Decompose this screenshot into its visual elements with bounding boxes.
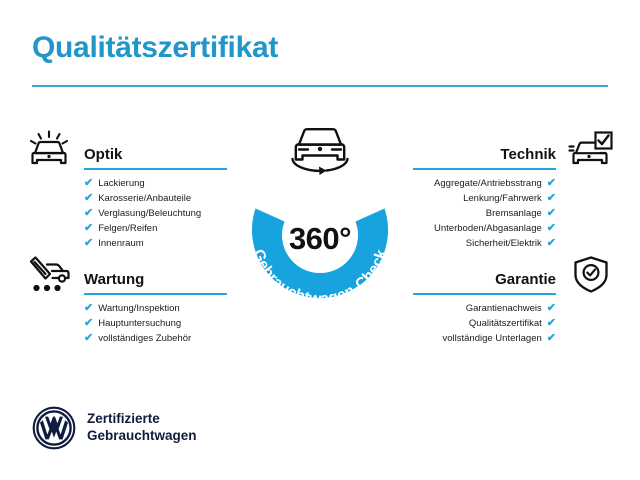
check-icon: ✔: [547, 191, 556, 206]
list-item-label: vollständiges Zubehör: [98, 333, 191, 344]
section-garantie-divider: [413, 293, 556, 295]
check-icon: ✔: [84, 236, 93, 251]
check-icon: ✔: [84, 316, 93, 331]
list-item-label: Qualitätszertifikat: [469, 318, 542, 329]
section-wartung-list: ✔Wartung/Inspektion ✔Hauptuntersuchung ✔…: [84, 301, 191, 346]
list-item: Garantienachweis✔: [442, 301, 556, 316]
section-optik-title: Optik: [84, 146, 122, 163]
list-item-label: Aggregate/Antriebsstrang: [434, 178, 542, 189]
title-divider: [32, 85, 608, 87]
list-item-label: Lenkung/Fahrwerk: [463, 193, 542, 204]
vw-logo-wordmark: Zertifizierte Gebrauchtwagen: [87, 410, 197, 444]
car-shine-icon: [26, 130, 72, 170]
section-technik-divider: [413, 168, 556, 170]
check-icon: ✔: [84, 331, 93, 346]
list-item: Unterboden/Abgasanlage✔: [434, 221, 556, 236]
list-item-label: Lackierung: [98, 178, 144, 189]
list-item-label: Garantienachweis: [466, 303, 542, 314]
list-item: ✔Lackierung: [84, 176, 201, 191]
check-icon: ✔: [84, 206, 93, 221]
list-item: ✔Wartung/Inspektion: [84, 301, 191, 316]
list-item: Qualitätszertifikat✔: [442, 316, 556, 331]
list-item: ✔Innenraum: [84, 236, 201, 251]
badge-360-gebrauchtwagen-check: Gebrauchtwagen-Check 360°: [229, 122, 411, 312]
check-icon: ✔: [84, 176, 93, 191]
badge-center-label: 360°: [229, 223, 411, 254]
section-optik-list: ✔Lackierung ✔Karosserie/Anbauteile ✔Verg…: [84, 176, 201, 251]
list-item: ✔Karosserie/Anbauteile: [84, 191, 201, 206]
vw-wordmark-line1: Zertifizierte: [87, 410, 197, 427]
check-icon: ✔: [84, 301, 93, 316]
list-item: Sicherheit/Elektrik✔: [434, 236, 556, 251]
car-rotate-360-icon: [281, 122, 359, 180]
section-wartung-divider: [84, 293, 227, 295]
certificate-page: Qualitätszertifikat Op: [0, 0, 640, 480]
page-title: Qualitätszertifikat: [32, 33, 278, 63]
list-item: Lenkung/Fahrwerk✔: [434, 191, 556, 206]
list-item: ✔Hauptuntersuchung: [84, 316, 191, 331]
section-wartung-title: Wartung: [84, 271, 144, 288]
list-item-label: Wartung/Inspektion: [98, 303, 180, 314]
vw-roundel-icon: [32, 406, 76, 450]
section-garantie-list: Garantienachweis✔ Qualitätszertifikat✔ v…: [442, 301, 556, 346]
check-icon: ✔: [547, 316, 556, 331]
list-item-label: vollständige Unterlagen: [442, 333, 541, 344]
list-item-label: Verglasung/Beleuchtung: [98, 208, 201, 219]
section-garantie-title: Garantie: [495, 271, 556, 288]
list-item: Aggregate/Antriebsstrang✔: [434, 176, 556, 191]
check-icon: ✔: [547, 176, 556, 191]
section-technik-title: Technik: [500, 146, 556, 163]
list-item: ✔Verglasung/Beleuchtung: [84, 206, 201, 221]
section-optik-divider: [84, 168, 227, 170]
list-item-label: Sicherheit/Elektrik: [466, 238, 542, 249]
check-icon: ✔: [547, 236, 556, 251]
shield-check-icon: [568, 255, 614, 295]
list-item: vollständige Unterlagen✔: [442, 331, 556, 346]
list-item: Bremsanlage✔: [434, 206, 556, 221]
list-item-label: Innenraum: [98, 238, 143, 249]
check-icon: ✔: [547, 206, 556, 221]
section-technik-list: Aggregate/Antriebsstrang✔ Lenkung/Fahrwe…: [434, 176, 556, 251]
vw-wordmark-line2: Gebrauchtwagen: [87, 427, 197, 444]
list-item-label: Hauptuntersuchung: [98, 318, 181, 329]
check-icon: ✔: [547, 331, 556, 346]
list-item: ✔vollständiges Zubehör: [84, 331, 191, 346]
list-item-label: Unterboden/Abgasanlage: [434, 223, 542, 234]
check-icon: ✔: [84, 191, 93, 206]
car-checkbox-icon: [568, 130, 614, 170]
check-icon: ✔: [547, 301, 556, 316]
list-item-label: Bremsanlage: [486, 208, 542, 219]
list-item-label: Karosserie/Anbauteile: [98, 193, 191, 204]
list-item-label: Felgen/Reifen: [98, 223, 157, 234]
check-icon: ✔: [547, 221, 556, 236]
check-icon: ✔: [84, 221, 93, 236]
list-item: ✔Felgen/Reifen: [84, 221, 201, 236]
car-wrench-icon: [26, 255, 72, 295]
